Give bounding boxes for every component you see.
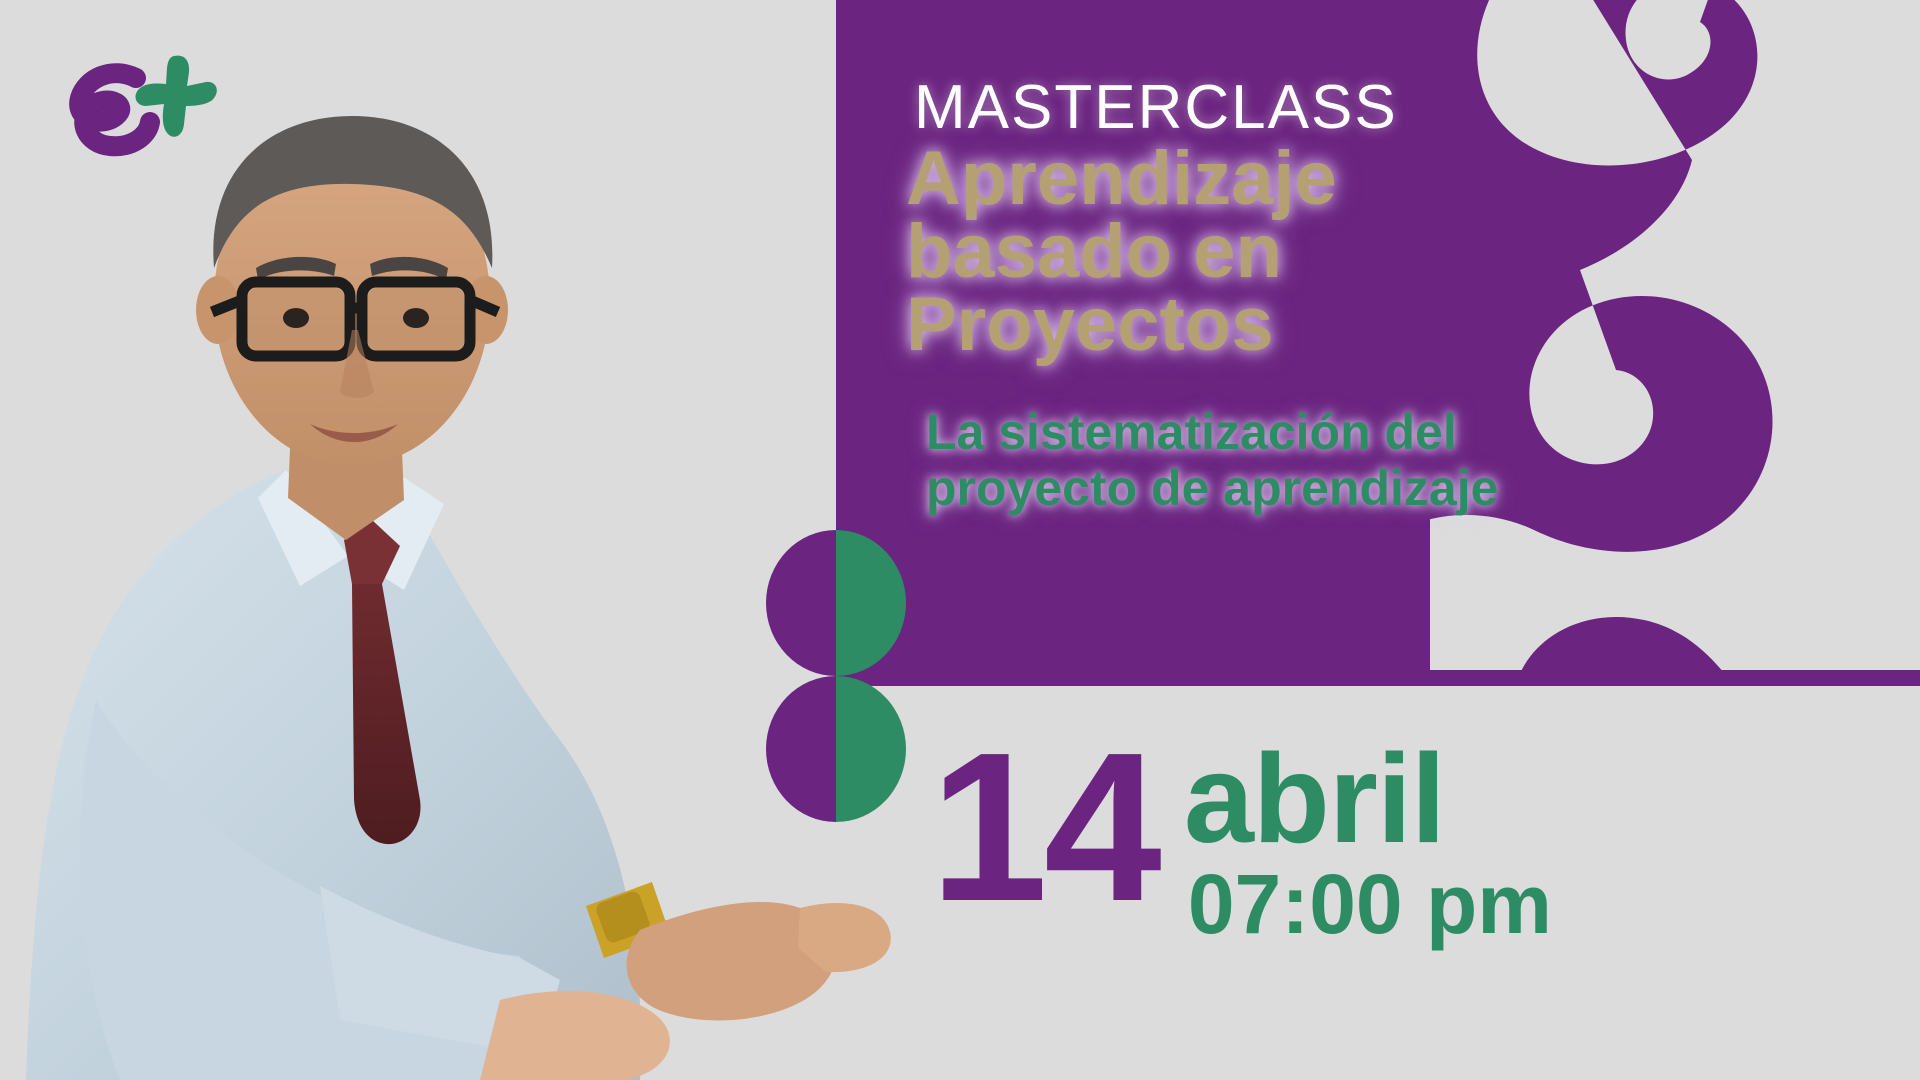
event-month: abril bbox=[1184, 746, 1552, 852]
circle-half-green bbox=[836, 676, 906, 822]
event-time: 07:00 pm bbox=[1188, 862, 1552, 946]
split-circle-lower bbox=[766, 676, 906, 822]
circle-half-green bbox=[836, 530, 906, 676]
headline-line-3: Proyectos bbox=[906, 289, 1860, 362]
kicker-masterclass: MASTERCLASS bbox=[914, 78, 1860, 139]
event-date-block: 14 abril 07:00 pm bbox=[930, 740, 1552, 946]
poster-text-block: MASTERCLASS Aprendizaje basado en Proyec… bbox=[900, 78, 1860, 516]
headline-line-2: basado en bbox=[906, 216, 1860, 289]
masterclass-poster: MASTERCLASS Aprendizaje basado en Proyec… bbox=[0, 0, 1920, 1080]
circle-half-purple bbox=[766, 676, 836, 822]
subheadline: La sistematización del proyecto de apren… bbox=[926, 404, 1860, 516]
split-circle-upper bbox=[766, 530, 906, 676]
headline: Aprendizaje basado en Proyectos bbox=[906, 143, 1860, 362]
subheadline-line-1: La sistematización del bbox=[926, 404, 1860, 460]
subheadline-line-2: proyecto de aprendizaje bbox=[926, 460, 1860, 516]
split-circle-pair bbox=[766, 530, 926, 810]
event-day: 14 bbox=[930, 740, 1158, 914]
brand-logo[interactable] bbox=[40, 48, 220, 168]
circle-half-purple bbox=[766, 530, 836, 676]
headline-line-1: Aprendizaje bbox=[906, 143, 1860, 216]
event-month-time: abril 07:00 pm bbox=[1184, 740, 1552, 946]
logo-squiggle-icon bbox=[79, 73, 150, 146]
